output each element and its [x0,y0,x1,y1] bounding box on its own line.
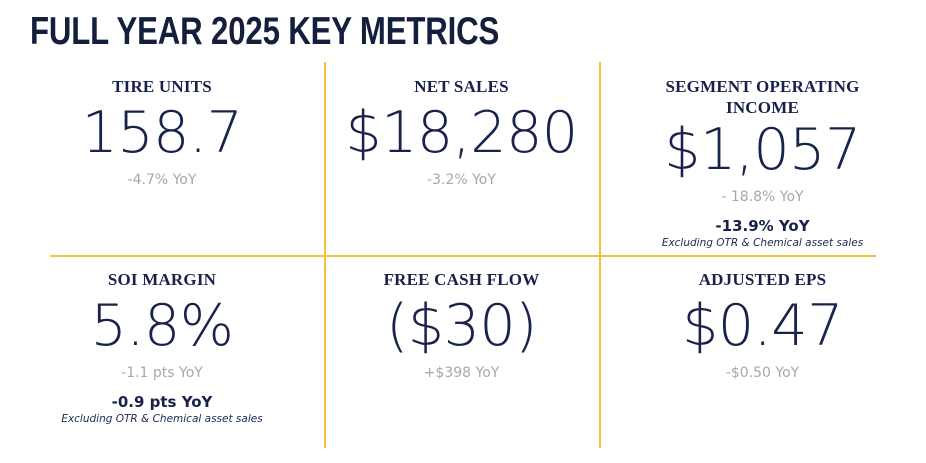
metric-adjusted-value: -0.9 pts YoY [61,393,262,412]
metric-label: FREE CASH FLOW [384,269,540,290]
metric-adjusted-caption: Excluding OTR & Chemical asset sales [61,412,262,426]
metric-card-net-sales: NET SALES $18,280 -3.2% YoY [324,62,599,255]
metric-label: ADJUSTED EPS [699,269,827,290]
metric-card-free-cash-flow: FREE CASH FLOW ($30) +$398 YoY [324,255,599,448]
metric-yoy-change: -1.1 pts YoY [121,364,203,382]
metric-adjusted-caption: Excluding OTR & Chemical asset sales [662,236,863,250]
metric-yoy-change: -4.7% YoY [128,171,197,189]
metric-yoy-change: -$0.50 YoY [726,364,799,382]
metric-value: 158.7 [82,101,243,165]
metric-card-tire-units: TIRE UNITS 158.7 -4.7% YoY [0,62,324,255]
metric-label: NET SALES [414,76,509,97]
metric-adjusted-note: -0.9 pts YoY Excluding OTR & Chemical as… [61,393,262,426]
metric-label: SEGMENT OPERATING INCOME [638,76,888,118]
page-title: FULL YEAR 2025 KEY METRICS [30,11,499,53]
metric-value: 5.8% [91,294,234,358]
metrics-grid: TIRE UNITS 158.7 -4.7% YoY NET SALES $18… [0,62,926,448]
metric-card-segment-operating-income: SEGMENT OPERATING INCOME $1,057 - 18.8% … [599,62,926,255]
metric-value: $1,057 [664,118,860,182]
metric-value: $18,280 [345,101,577,165]
metric-yoy-change: -3.2% YoY [427,171,496,189]
metric-label: SOI MARGIN [108,269,216,290]
metric-yoy-change: +$398 YoY [424,364,500,382]
metric-card-soi-margin: SOI MARGIN 5.8% -1.1 pts YoY -0.9 pts Yo… [0,255,324,448]
metric-value: $0.47 [682,294,843,358]
key-metrics-slide: FULL YEAR 2025 KEY METRICS TIRE UNITS 15… [0,0,926,463]
metric-label: TIRE UNITS [112,76,212,97]
metric-value: ($30) [386,294,537,358]
metric-yoy-change: - 18.8% YoY [721,188,803,206]
metric-adjusted-note: -13.9% YoY Excluding OTR & Chemical asse… [662,217,863,250]
metric-adjusted-value: -13.9% YoY [662,217,863,236]
metric-card-adjusted-eps: ADJUSTED EPS $0.47 -$0.50 YoY [599,255,926,448]
